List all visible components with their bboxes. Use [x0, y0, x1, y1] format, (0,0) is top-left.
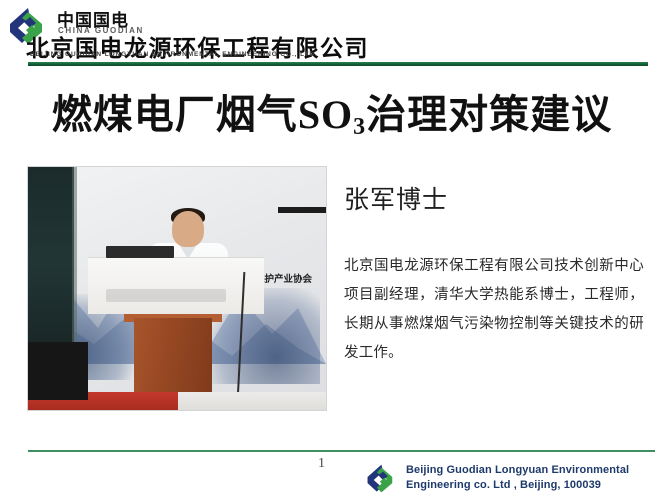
slide-root: 中国国电 CHINA GUODIAN 北京国电龙源环保工程有限公司 BEIJIN…	[0, 0, 664, 502]
footer-company-address: Beijing Guodian Longyuan Environmental E…	[406, 463, 629, 493]
footer-line-2: Engineering co. Ltd , Beijing, 100039	[406, 478, 629, 493]
photo-speaker-head	[172, 211, 204, 247]
title-part-before: 燃煤电厂烟气	[52, 92, 298, 138]
page-number: 1	[318, 456, 325, 472]
photo-lectern-desk	[88, 257, 264, 314]
title-part-after: 治理对策建议	[366, 92, 612, 138]
title-formula-subscript: 3	[353, 114, 366, 140]
photo-dark-foreground	[28, 342, 88, 400]
photo-floor-right	[178, 392, 327, 410]
footer-divider	[28, 450, 655, 452]
header-divider	[28, 62, 648, 66]
photo-desk-banner	[106, 289, 226, 302]
slide-title: 燃煤电厂烟气SO3治理对策建议	[0, 82, 664, 140]
photo-podium	[134, 318, 212, 402]
speaker-bio: 北京国电龙源环保工程有限公司技术创新中心项目副经理，清华大学热能系博士，工程师，…	[344, 252, 644, 368]
slide-header: 中国国电 CHINA GUODIAN 北京国电龙源环保工程有限公司 BEIJIN…	[0, 0, 664, 68]
speaker-name: 张军博士	[344, 180, 448, 216]
company-name-en: BEIJING GUODIAN LONGYUAN ENVIRONMENTAL E…	[30, 51, 318, 58]
photo-laptop	[106, 246, 174, 258]
footer-guodian-diamond-logo-icon	[366, 463, 400, 494]
footer-line-1: Beijing Guodian Longyuan Environmental	[406, 463, 629, 478]
photo-dark-bar	[278, 207, 326, 213]
title-formula-main: SO	[298, 92, 353, 137]
speaker-photo: 中国环境保护产业协会	[27, 166, 327, 411]
